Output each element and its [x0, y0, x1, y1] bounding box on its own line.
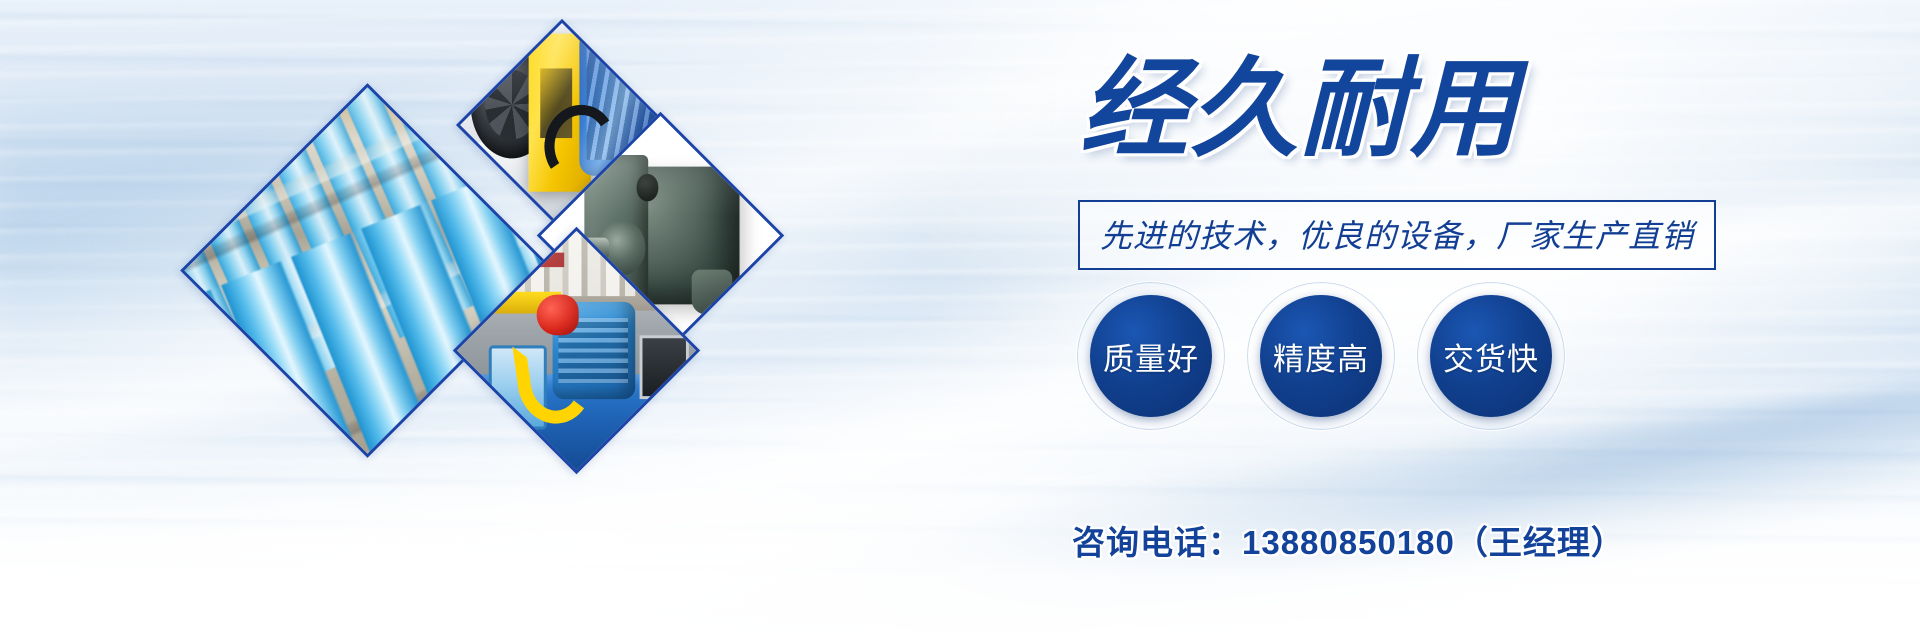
feature-badge-label: 交货快	[1443, 334, 1539, 379]
subtitle-text: 先进的技术，优良的设备，厂家生产直销	[1100, 218, 1694, 254]
diamond-photo-collage	[160, 0, 860, 640]
red-valve-knobs	[611, 436, 684, 465]
control-panel	[640, 336, 689, 400]
feature-badge-label: 精度高	[1273, 334, 1369, 379]
contact-phone-line[interactable]: 咨询电话：13880850180（王经理）	[1072, 516, 1625, 564]
promo-banner: 经久耐用 先进的技术，优良的设备，厂家生产直销 质量好 精度高 交货快 咨询电话…	[0, 0, 1920, 640]
banner-content: 经久耐用 先进的技术，优良的设备，厂家生产直销 质量好 精度高 交货快 咨询电话…	[1070, 0, 1830, 640]
subtitle-box: 先进的技术，优良的设备，厂家生产直销	[1078, 200, 1716, 270]
pump-mounting-ear	[692, 270, 731, 314]
red-motor-cap	[537, 294, 579, 336]
headline: 经久耐用	[1080, 52, 1520, 165]
pump-bolt-hole	[636, 174, 658, 201]
feature-badge-precision[interactable]: 精度高	[1246, 281, 1396, 431]
feature-badge-quality[interactable]: 质量好	[1076, 281, 1226, 431]
feature-badge-label: 质量好	[1103, 334, 1199, 379]
feature-badge-group: 质量好 精度高 交货快	[1076, 281, 1566, 431]
feature-badge-delivery[interactable]: 交货快	[1416, 281, 1566, 431]
